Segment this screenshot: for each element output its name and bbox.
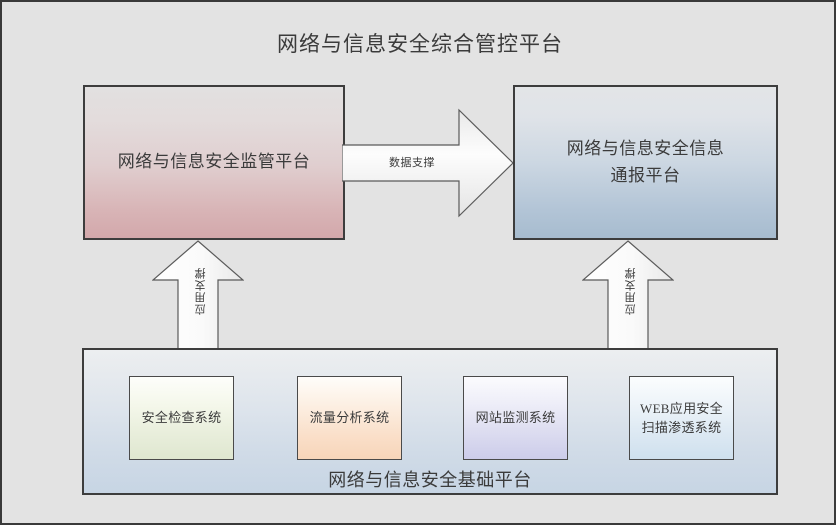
page-title: 网络与信息安全综合管控平台 bbox=[2, 28, 836, 58]
box-supervision-platform-label: 网络与信息安全监管平台 bbox=[118, 149, 311, 175]
subsystem-box-traffic-analysis-label: 流量分析系统 bbox=[310, 408, 390, 428]
box-notification-platform-label-line2: 通报平台 bbox=[611, 166, 681, 185]
subsystem-box-web-app-security-scan[interactable]: WEB应用安全 扫描渗透系统 bbox=[629, 376, 734, 460]
base-platform-label: 网络与信息安全基础平台 bbox=[82, 466, 778, 492]
application-support-arrow-right-label: 应用支撑 bbox=[626, 267, 637, 315]
subsystem-label-line1: WEB应用安全 bbox=[640, 399, 723, 419]
box-supervision-platform[interactable]: 网络与信息安全监管平台 bbox=[83, 85, 345, 240]
box-notification-platform-label-line1: 网络与信息安全信息 bbox=[567, 139, 725, 158]
diagram-canvas: 网络与信息安全综合管控平台 网络与信息安全监管平台 数据支撑 网络与信息安全信息… bbox=[0, 0, 836, 525]
subsystem-label-line1: 网站监测系统 bbox=[476, 408, 556, 428]
subsystem-box-security-check[interactable]: 安全检查系统 bbox=[129, 376, 234, 460]
application-support-arrow-left-label: 应用支撑 bbox=[196, 267, 207, 315]
subsystem-label-line1: 流量分析系统 bbox=[310, 408, 390, 428]
subsystem-box-website-monitoring[interactable]: 网站监测系统 bbox=[463, 376, 568, 460]
subsystem-box-traffic-analysis[interactable]: 流量分析系统 bbox=[297, 376, 402, 460]
data-support-arrow-label: 数据支撑 bbox=[357, 154, 467, 170]
subsystem-box-web-app-security-scan-label: WEB应用安全 扫描渗透系统 bbox=[640, 399, 723, 438]
subsystem-label-line1: 安全检查系统 bbox=[142, 408, 222, 428]
subsystem-label-line2: 扫描渗透系统 bbox=[640, 418, 723, 438]
box-notification-platform-label: 网络与信息安全信息 通报平台 bbox=[567, 136, 725, 189]
box-notification-platform[interactable]: 网络与信息安全信息 通报平台 bbox=[513, 85, 778, 240]
subsystem-box-security-check-label: 安全检查系统 bbox=[142, 408, 222, 428]
subsystem-box-website-monitoring-label: 网站监测系统 bbox=[476, 408, 556, 428]
